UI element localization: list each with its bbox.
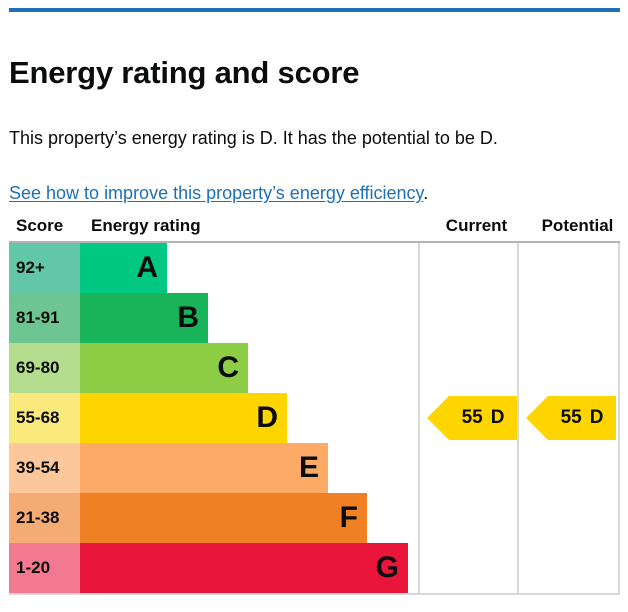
rating-bar-b: B: [80, 293, 208, 343]
improve-efficiency-link[interactable]: See how to improve this property’s energ…: [9, 183, 423, 203]
rating-bar-f: F: [80, 493, 367, 543]
score-cell-b: 81-91: [9, 293, 80, 343]
intro-paragraph: This property’s energy rating is D. It h…: [9, 126, 498, 150]
band-row-c: 69-80C: [9, 343, 620, 393]
score-range-label: 81-91: [16, 308, 59, 328]
rating-bar-a: A: [80, 243, 167, 293]
top-blue-rule: [9, 8, 620, 12]
rating-bar-g: G: [80, 543, 408, 593]
table-bottom-rule: [9, 593, 620, 595]
rating-letter-g: G: [376, 553, 399, 583]
score-range-label: 21-38: [16, 508, 59, 528]
energy-rating-table: Score Energy rating Current Potential 92…: [9, 214, 620, 593]
band-row-f: 21-38F: [9, 493, 620, 543]
band-row-g: 1-20G: [9, 543, 620, 593]
score-cell-a: 92+: [9, 243, 80, 293]
band-row-b: 81-91B: [9, 293, 620, 343]
score-range-label: 55-68: [16, 408, 59, 428]
marker-score-value: 55: [462, 407, 483, 428]
score-range-label: 92+: [16, 258, 45, 278]
band-row-a: 92+A: [9, 243, 620, 293]
energy-rating-page: Energy rating and score This property’s …: [0, 0, 628, 612]
score-cell-f: 21-38: [9, 493, 80, 543]
rating-letter-c: C: [217, 353, 239, 383]
score-range-label: 39-54: [16, 458, 59, 478]
band-row-e: 39-54E: [9, 443, 620, 493]
score-cell-e: 39-54: [9, 443, 80, 493]
table-header-row: Score Energy rating Current Potential: [9, 214, 620, 243]
marker-band-letter: D: [491, 407, 505, 428]
improve-link-line: See how to improve this property’s energ…: [9, 181, 428, 205]
rating-bar-c: C: [80, 343, 248, 393]
column-header-current: Current: [427, 215, 526, 237]
page-title: Energy rating and score: [9, 55, 359, 91]
rating-letter-e: E: [299, 453, 319, 483]
score-cell-g: 1-20: [9, 543, 80, 593]
score-cell-d: 55-68: [9, 393, 80, 443]
score-range-label: 69-80: [16, 358, 59, 378]
rating-marker-label: 55D: [449, 407, 517, 429]
rating-marker-label: 55D: [548, 407, 616, 429]
rating-bar-d: D: [80, 393, 287, 443]
table-body: 92+A81-91B69-80C55-68D39-54E21-38F1-20G5…: [9, 243, 620, 593]
rating-letter-d: D: [256, 403, 278, 433]
rating-letter-f: F: [340, 503, 358, 533]
column-header-score: Score: [16, 215, 63, 237]
score-cell-c: 69-80: [9, 343, 80, 393]
marker-band-letter: D: [590, 407, 604, 428]
column-header-energy-rating: Energy rating: [91, 215, 201, 237]
rating-bar-e: E: [80, 443, 328, 493]
column-header-potential: Potential: [526, 215, 628, 237]
score-range-label: 1-20: [16, 558, 50, 578]
marker-score-value: 55: [561, 407, 582, 428]
improve-link-period: .: [423, 183, 428, 203]
rating-letter-a: A: [136, 253, 158, 283]
rating-letter-b: B: [177, 303, 199, 333]
